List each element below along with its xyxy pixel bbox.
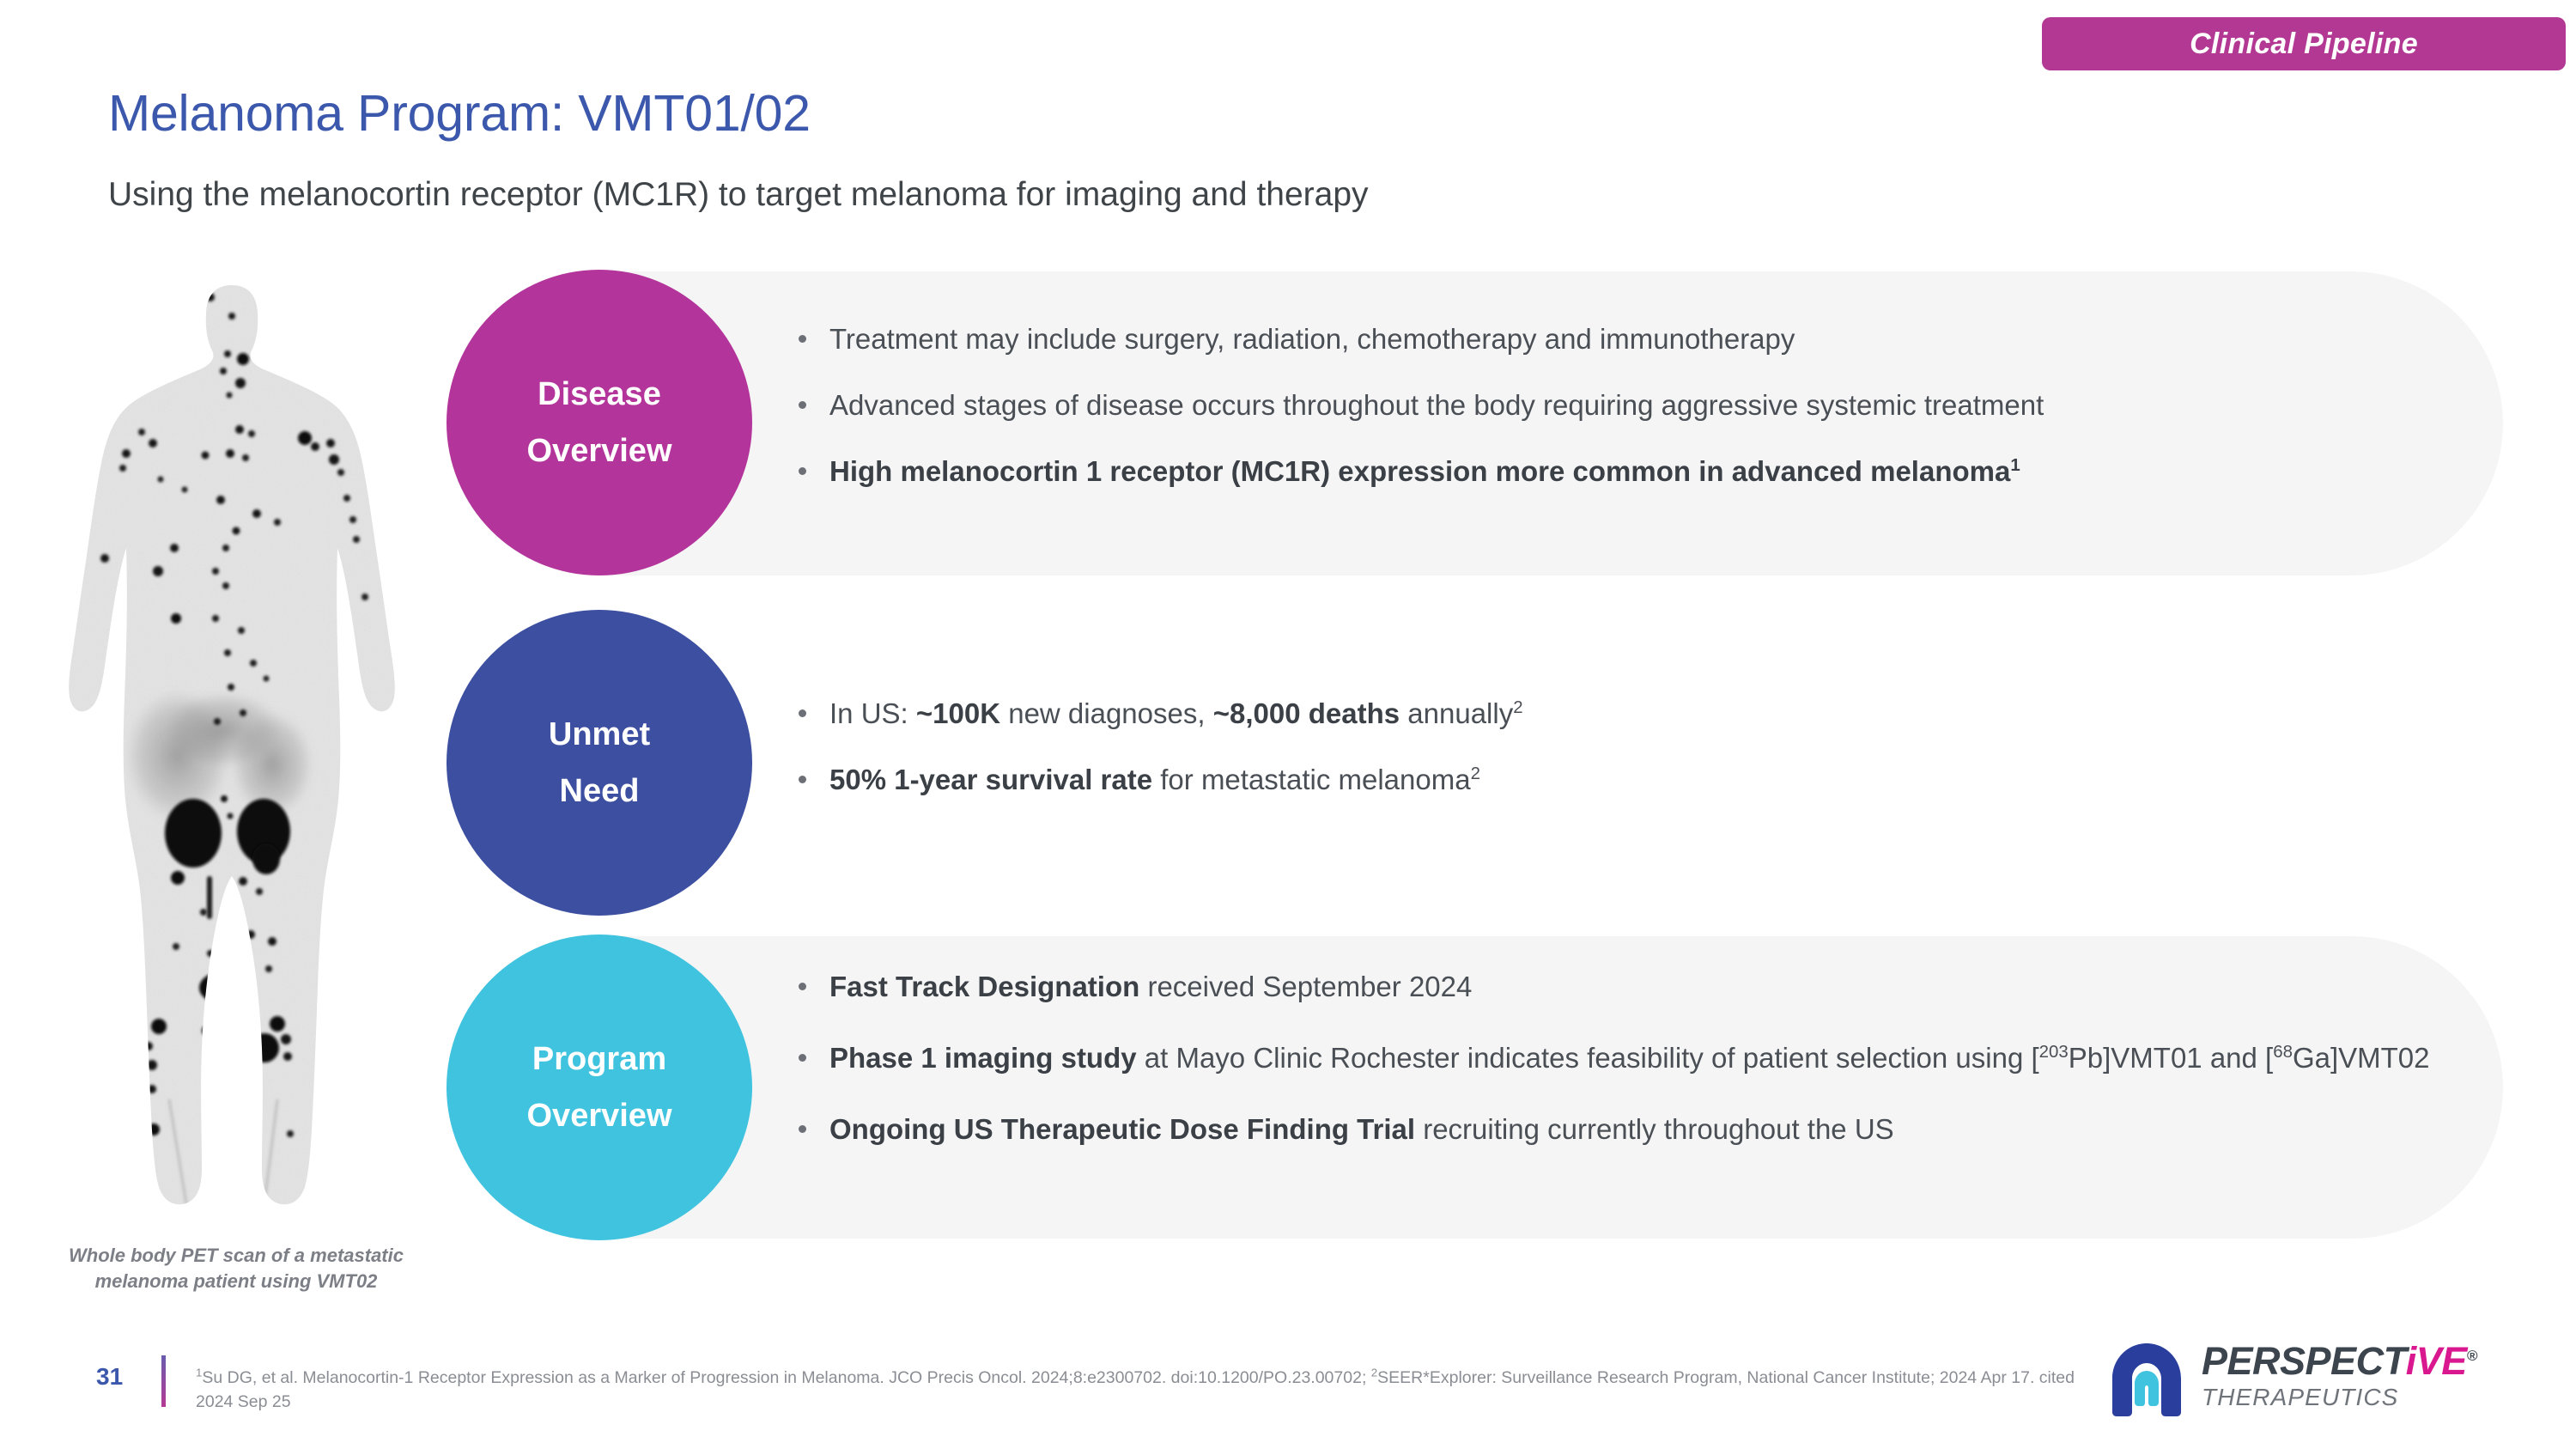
logo-word: PERSPECTiVE® xyxy=(2202,1342,2477,1380)
circle-label-line1: Unmet xyxy=(549,718,650,751)
registered-trademark-icon: ® xyxy=(2467,1348,2477,1364)
disease-overview-circle: Disease Overview xyxy=(447,270,752,575)
unmet-need-circle: Unmet Need xyxy=(447,610,752,916)
footnote-citations: 1Su DG, et al. Melanocortin-1 Receptor E… xyxy=(196,1366,2076,1415)
footer-divider xyxy=(161,1355,166,1407)
list-item: Phase 1 imaging study at Mayo Clinic Roc… xyxy=(792,1040,2449,1077)
page-title: Melanoma Program: VMT01/02 xyxy=(108,84,811,143)
logo-arch-icon xyxy=(2105,1338,2188,1421)
circle-label-line1: Program xyxy=(532,1043,666,1075)
list-item: 50% 1-year survival rate for metastatic … xyxy=(792,762,2449,799)
unmet-need-bullets: In US: ~100K new diagnoses, ~8,000 death… xyxy=(792,696,2449,799)
slide: Clinical Pipeline Melanoma Program: VMT0… xyxy=(0,0,2576,1449)
list-item: Fast Track Designation received Septembe… xyxy=(792,969,2449,1006)
circle-label-line1: Disease xyxy=(538,378,661,411)
list-item: Treatment may include surgery, radiation… xyxy=(792,321,2449,358)
logo-word-accent: iVE xyxy=(2406,1339,2467,1383)
list-item: In US: ~100K new diagnoses, ~8,000 death… xyxy=(792,696,2449,733)
badge-label: Clinical Pipeline xyxy=(2190,27,2418,61)
circle-label-line2: Overview xyxy=(527,1099,672,1132)
logo-word-prefix: PERSPECT xyxy=(2202,1339,2406,1383)
page-number: 31 xyxy=(96,1363,123,1391)
program-overview-bullets: Fast Track Designation received Septembe… xyxy=(792,969,2449,1183)
circle-label-line2: Overview xyxy=(527,435,672,467)
whole-body-pet-scan-image xyxy=(47,275,416,1237)
disease-overview-bullets: Treatment may include surgery, radiation… xyxy=(792,321,2449,490)
clinical-pipeline-badge: Clinical Pipeline xyxy=(2042,17,2566,70)
figure-caption: Whole body PET scan of a metastatic mela… xyxy=(47,1243,425,1294)
logo-subtitle: THERAPEUTICS xyxy=(2202,1385,2477,1409)
perspective-therapeutics-logo: PERSPECTiVE® THERAPEUTICS xyxy=(2105,1336,2535,1429)
list-item: Ongoing US Therapeutic Dose Finding Tria… xyxy=(792,1111,2449,1148)
program-overview-circle: Program Overview xyxy=(447,935,752,1240)
list-item: High melanocortin 1 receptor (MC1R) expr… xyxy=(792,454,2449,490)
page-subtitle: Using the melanocortin receptor (MC1R) t… xyxy=(108,176,1369,214)
logo-wordmark: PERSPECTiVE® THERAPEUTICS xyxy=(2202,1342,2477,1409)
list-item: Advanced stages of disease occurs throug… xyxy=(792,387,2449,424)
circle-label-line2: Need xyxy=(560,775,640,807)
